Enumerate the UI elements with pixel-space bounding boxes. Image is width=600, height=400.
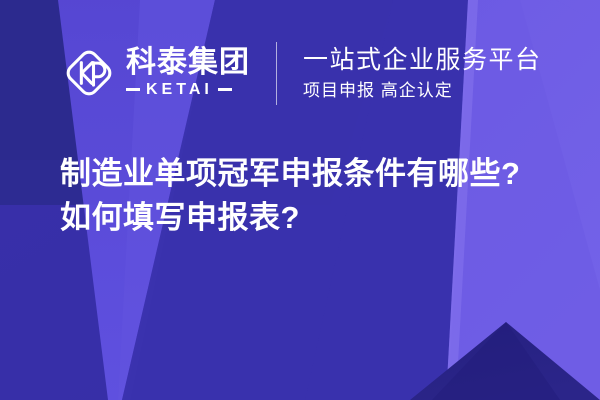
headline-block: 制造业单项冠军申报条件有哪些? 如何填写申报表? [60,152,560,240]
promo-banner: 科泰集团 KETAI 一站式企业服务平台 项目申报 高企认定 制造业单项冠军申报… [0,0,600,400]
logo-dash-left [126,88,140,91]
tagline-main-text: 一站式企业服务平台 [303,46,542,75]
logo-company-name-en-row: KETAI [126,82,250,98]
ketai-diamond-kp-logo-icon [62,46,116,100]
headline-line-1: 制造业单项冠军申报条件有哪些? [60,152,560,196]
headline-line-2: 如何填写申报表? [60,196,560,240]
logo-company-name-cn: 科泰集团 [126,48,250,79]
banner-header: 科泰集团 KETAI 一站式企业服务平台 项目申报 高企认定 [62,38,542,108]
header-divider [276,42,277,105]
ketai-logo: 科泰集团 KETAI [62,42,250,104]
logo-company-name-en: KETAI [146,82,213,98]
logo-wordmark: 科泰集团 KETAI [126,44,250,102]
tagline-sub-text: 项目申报 高企认定 [303,81,542,101]
tagline-block: 一站式企业服务平台 项目申报 高企认定 [303,41,542,105]
logo-dash-right [218,88,232,91]
